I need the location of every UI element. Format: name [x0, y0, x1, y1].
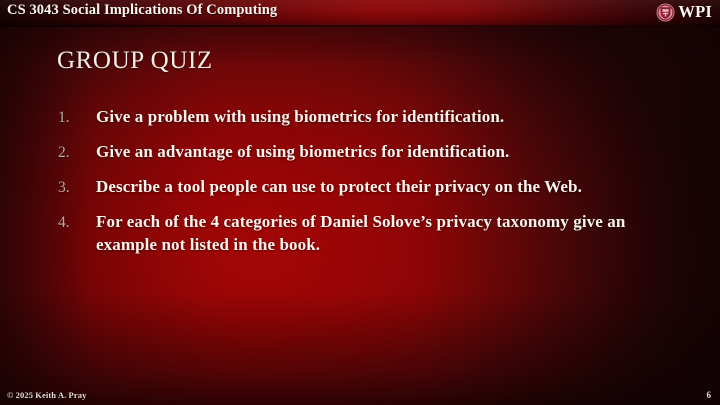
list-item: 1. Give a problem with using biometrics …: [58, 106, 658, 129]
list-item-text: Give a problem with using biometrics for…: [96, 106, 641, 129]
list-item-number: 4.: [58, 211, 96, 234]
list-item: 2. Give an advantage of using biometrics…: [58, 141, 658, 164]
header-divider: [0, 25, 720, 27]
presentation-slide: CS 3043 Social Implications Of Computing…: [0, 0, 720, 405]
slide-title: GROUP QUIZ: [57, 47, 213, 75]
slide-page-number: 6: [707, 390, 712, 400]
list-item-number: 2.: [58, 141, 96, 164]
wpi-logo: WPI: [656, 1, 712, 24]
wpi-seal-icon: [656, 3, 675, 22]
list-item: 4. For each of the 4 categories of Danie…: [58, 211, 658, 256]
list-item: 3. Describe a tool people can use to pro…: [58, 176, 658, 199]
quiz-question-list: 1. Give a problem with using biometrics …: [58, 106, 658, 268]
wpi-wordmark: WPI: [678, 4, 712, 21]
list-item-text: For each of the 4 categories of Daniel S…: [96, 211, 641, 256]
copyright-notice: © 2025 Keith A. Pray: [7, 390, 86, 400]
list-item-number: 3.: [58, 176, 96, 199]
list-item-text: Describe a tool people can use to protec…: [96, 176, 658, 199]
list-item-number: 1.: [58, 106, 96, 129]
list-item-text: Give an advantage of using biometrics fo…: [96, 141, 641, 164]
course-title: CS 3043 Social Implications Of Computing: [7, 2, 277, 19]
